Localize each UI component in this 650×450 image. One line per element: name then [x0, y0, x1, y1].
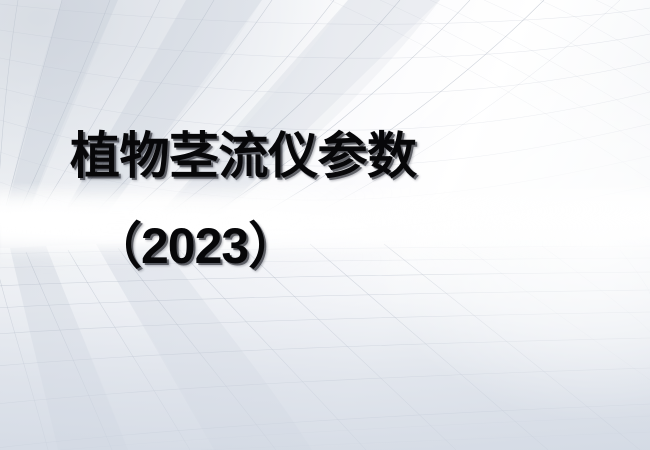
title-slide: 植物茎流仪参数 （2023）: [0, 0, 650, 450]
slide-subtitle-year: （2023）: [92, 221, 297, 271]
title-text-block: 植物茎流仪参数 （2023）: [0, 0, 650, 450]
slide-title: 植物茎流仪参数: [70, 131, 417, 181]
